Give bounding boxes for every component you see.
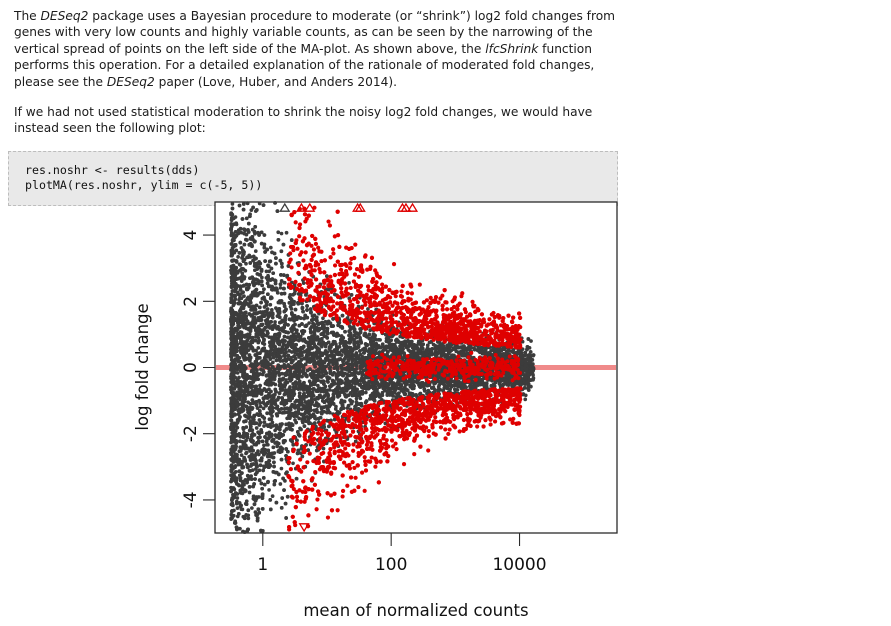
text-run-italic: DESeq2 [107,75,155,89]
text-run-italic: lfcShrink [485,42,538,56]
code-line-2: plotMA(res.noshr, ylim = c(-5, 5)) [25,178,617,193]
y-tick-label: -2 [181,425,201,442]
y-tick-label: -4 [181,491,201,508]
x-tick-label: 1 [257,555,268,575]
article-body: The DESeq2 package uses a Bayesian proce… [0,0,891,206]
ma-plot-svg: 420-2-4 log fold change 110010000 mean o… [0,196,891,626]
y-tick-label: 0 [181,362,201,373]
code-line-1: res.noshr <- results(dds) [25,163,617,178]
ma-plot-figure: 420-2-4 log fold change 110010000 mean o… [0,196,891,626]
x-tick-label: 100 [375,555,407,575]
y-axis-title: log fold change [133,303,152,430]
y-axis: 420-2-4 log fold change [133,230,215,509]
x-axis-title: mean of normalized counts [303,601,528,620]
paragraph-intro: The DESeq2 package uses a Bayesian proce… [0,0,891,90]
paragraph-lead-in: If we had not used statistical moderatio… [0,90,891,137]
y-tick-label: 2 [181,296,201,307]
x-axis: 110010000 mean of normalized counts [257,533,546,620]
x-tick-label: 10000 [492,555,546,575]
text-run-italic: DESeq2 [41,9,89,23]
text-run: The [14,9,41,23]
y-tick-label: 4 [181,230,201,241]
text-run: paper (Love, Huber, and Anders 2014). [155,75,397,89]
